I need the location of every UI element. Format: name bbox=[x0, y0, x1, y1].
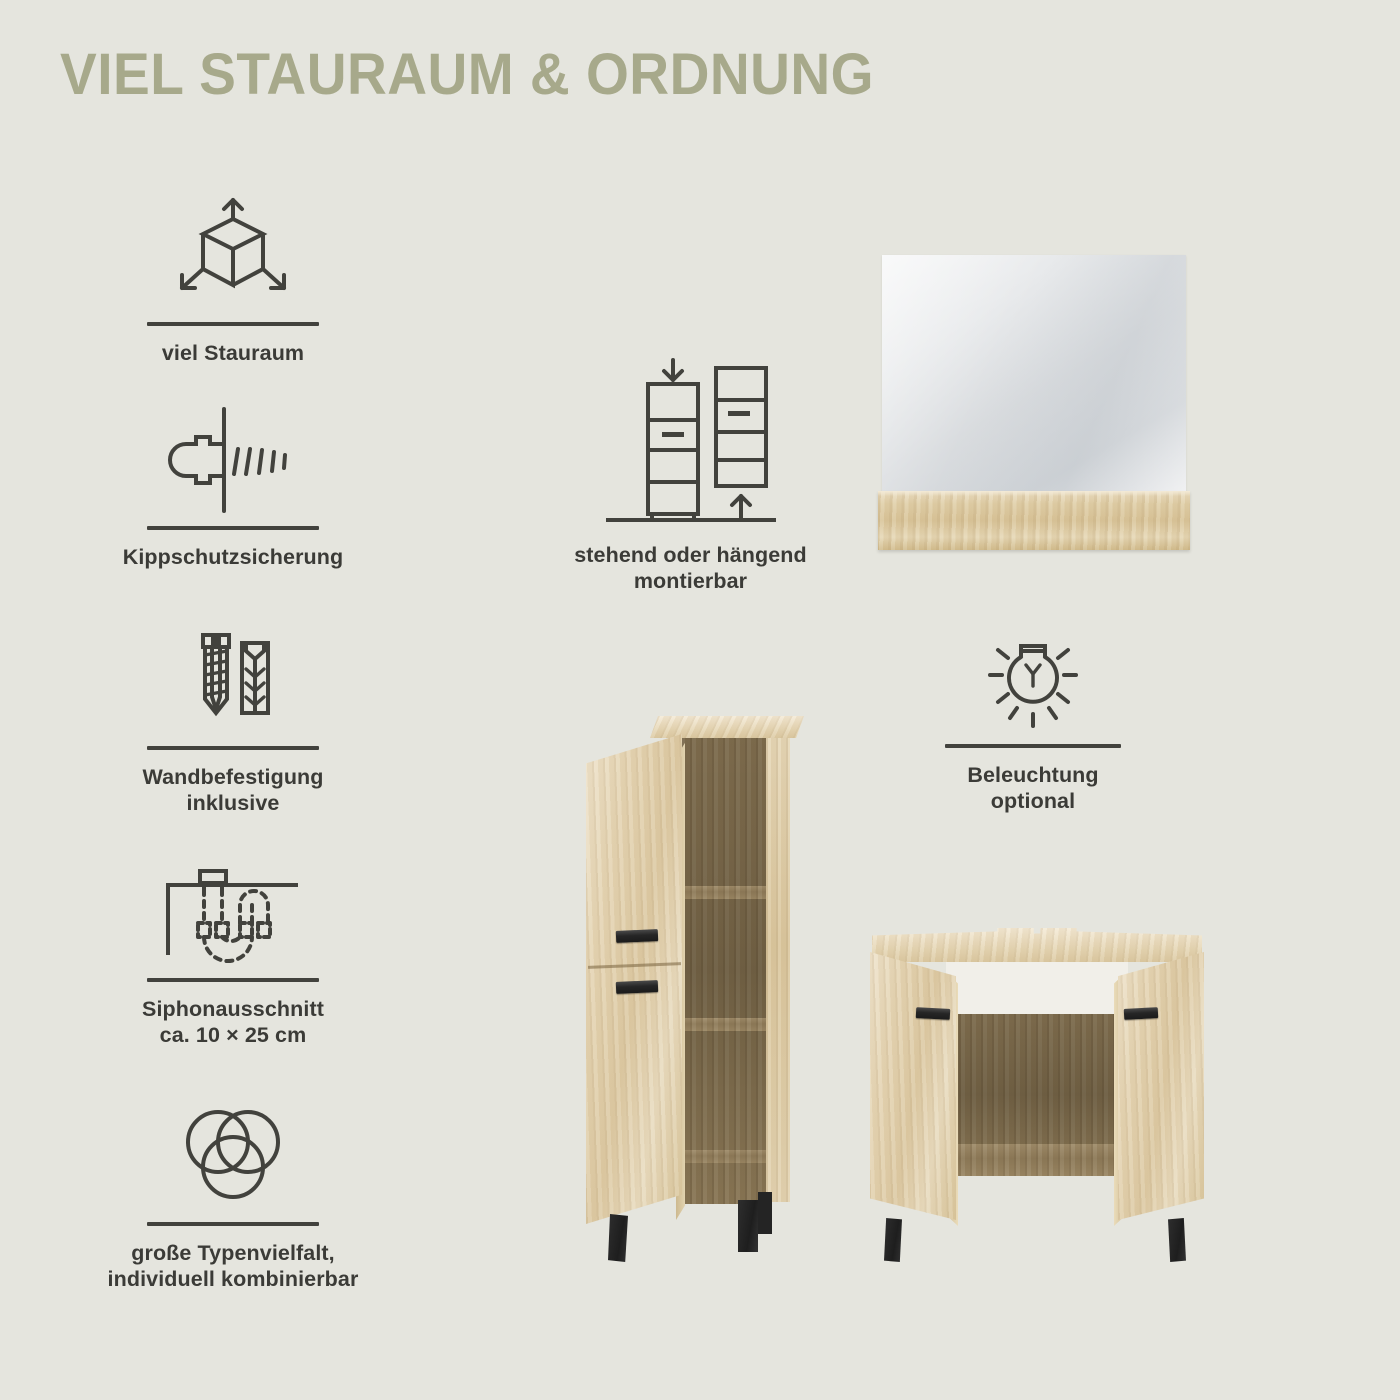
three-overlapping-circles-icon bbox=[83, 1096, 383, 1216]
cabinet-door-right bbox=[1118, 952, 1204, 1220]
feature-wandbefestigung: Wandbefestigung inklusive bbox=[83, 620, 383, 816]
mirror-glass bbox=[882, 255, 1186, 492]
feature-kippschutzsicherung: Kippschutzsicherung bbox=[83, 400, 383, 570]
feature-caption: Siphonausschnitt ca. 10 × 25 cm bbox=[83, 996, 383, 1048]
feature-beleuchtung-optional: Beleuchtung optional bbox=[888, 630, 1178, 814]
product-wall-mirror bbox=[878, 255, 1190, 550]
cabinet-leg bbox=[608, 1214, 628, 1262]
wall-anchor-tip-protection-icon bbox=[83, 400, 383, 520]
cabinet-leg bbox=[738, 1200, 758, 1252]
feature-caption: Beleuchtung optional bbox=[888, 762, 1178, 814]
shelf-board bbox=[679, 886, 767, 899]
feature-stehend-oder-haengend: stehend oder hängend montierbar bbox=[538, 358, 843, 594]
cabinet-leg bbox=[758, 1192, 772, 1234]
product-washbasin-base-cabinet bbox=[862, 922, 1210, 1282]
feature-caption: große Typenvielfalt, individuell kombini… bbox=[83, 1240, 383, 1292]
divider bbox=[945, 744, 1121, 748]
feature-caption: Kippschutzsicherung bbox=[83, 544, 383, 570]
siphon-cutout-icon bbox=[83, 852, 383, 972]
feature-caption: stehend oder hängend montierbar bbox=[538, 542, 843, 594]
divider bbox=[147, 1222, 319, 1226]
shelf-board bbox=[679, 1150, 767, 1163]
door-handle-right[interactable] bbox=[1124, 1007, 1159, 1020]
cabinet-top-panel-with-siphon-notch bbox=[872, 928, 1202, 962]
cabinet-top-panel bbox=[650, 716, 804, 738]
divider bbox=[147, 978, 319, 982]
cabinet-leg bbox=[1168, 1218, 1186, 1262]
feature-caption: Wandbefestigung inklusive bbox=[83, 764, 383, 816]
feature-caption: viel Stauraum bbox=[83, 340, 383, 366]
door-handle[interactable] bbox=[616, 980, 658, 994]
divider bbox=[147, 746, 319, 750]
product-tall-cabinet bbox=[586, 716, 804, 1276]
screw-and-dowel-icon bbox=[83, 620, 383, 740]
feature-typenvielfalt: große Typenvielfalt, individuell kombini… bbox=[83, 1096, 383, 1292]
cabinet-interior-floor bbox=[948, 1144, 1126, 1176]
cabinet-open-back bbox=[946, 962, 1128, 1016]
feature-viel-stauraum: viel Stauraum bbox=[83, 196, 383, 366]
door-handle-left[interactable] bbox=[916, 1007, 951, 1020]
expand-cube-icon bbox=[83, 196, 383, 316]
divider bbox=[147, 526, 319, 530]
shelf-board bbox=[679, 1018, 767, 1031]
standing-or-hanging-cabinet-icon bbox=[538, 358, 843, 538]
page-title: VIEL STAURAUM & ORDNUNG bbox=[60, 40, 874, 110]
cabinet-side-panel bbox=[766, 734, 790, 1202]
feature-siphonausschnitt: Siphonausschnitt ca. 10 × 25 cm bbox=[83, 852, 383, 1048]
mirror-oak-shelf bbox=[878, 491, 1190, 550]
infographic-page: VIEL STAURAUM & ORDNUNG viel Stauraum bbox=[0, 0, 1400, 1400]
lightbulb-icon bbox=[888, 630, 1178, 742]
door-handle[interactable] bbox=[616, 929, 658, 943]
cabinet-leg bbox=[884, 1218, 902, 1262]
cabinet-door-left bbox=[870, 952, 956, 1220]
cabinet-interior bbox=[679, 738, 767, 1204]
divider bbox=[147, 322, 319, 326]
cabinet-door bbox=[586, 734, 682, 1224]
